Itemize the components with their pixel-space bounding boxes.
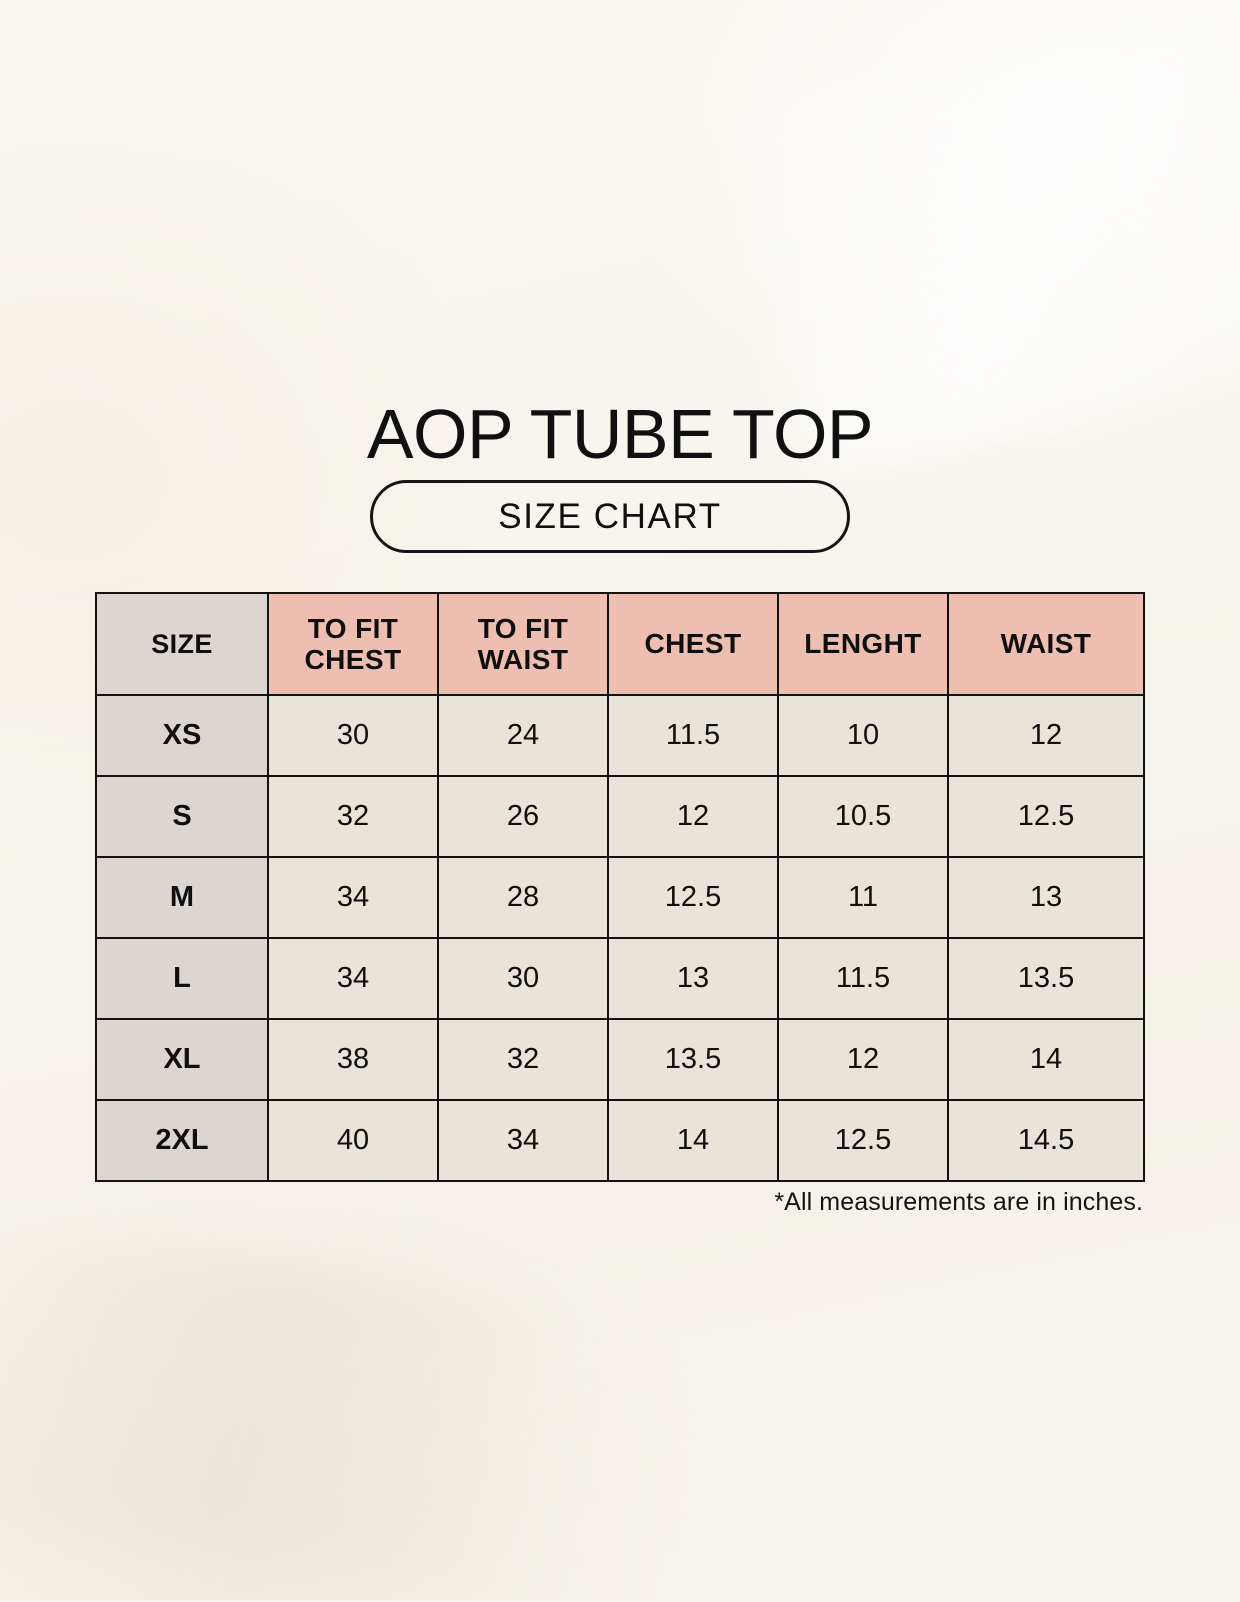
cell-lenght: 11: [778, 857, 948, 938]
cell-size: L: [96, 938, 268, 1019]
cell-waist: 13: [948, 857, 1144, 938]
measurement-units-note: *All measurements are in inches.: [95, 1188, 1143, 1217]
cell-to-fit-waist: 28: [438, 857, 608, 938]
cell-chest: 11.5: [608, 695, 778, 776]
cell-lenght: 10.5: [778, 776, 948, 857]
cell-chest: 12: [608, 776, 778, 857]
column-header-waist: WAIST: [948, 593, 1144, 695]
cell-lenght: 12.5: [778, 1100, 948, 1181]
cell-to-fit-chest: 34: [268, 938, 438, 1019]
cell-lenght: 11.5: [778, 938, 948, 1019]
column-header-to-fit-chest: TO FIT CHEST: [268, 593, 438, 695]
cell-to-fit-waist: 24: [438, 695, 608, 776]
table-row: XL 38 32 13.5 12 14: [96, 1019, 1144, 1100]
column-header-to-fit-waist: TO FIT WAIST: [438, 593, 608, 695]
table-row: 2XL 40 34 14 12.5 14.5: [96, 1100, 1144, 1181]
cell-to-fit-chest: 40: [268, 1100, 438, 1181]
page-title: AOP TUBE TOP: [0, 399, 1240, 469]
column-header-chest: CHEST: [608, 593, 778, 695]
column-header-size: SIZE: [96, 593, 268, 695]
cell-size: S: [96, 776, 268, 857]
cell-to-fit-chest: 32: [268, 776, 438, 857]
size-chart-page: AOP TUBE TOP SIZE CHART SIZE TO FIT CHES…: [0, 0, 1240, 1600]
table-body: XS 30 24 11.5 10 12 S 32 26 12 10.5 12.5…: [96, 695, 1144, 1181]
cell-size: XL: [96, 1019, 268, 1100]
table-row: S 32 26 12 10.5 12.5: [96, 776, 1144, 857]
cell-to-fit-chest: 30: [268, 695, 438, 776]
size-chart-badge: SIZE CHART: [370, 480, 850, 553]
cell-waist: 13.5: [948, 938, 1144, 1019]
cell-to-fit-waist: 30: [438, 938, 608, 1019]
cell-to-fit-chest: 34: [268, 857, 438, 938]
size-chart-badge-label: SIZE CHART: [498, 497, 721, 537]
table-row: L 34 30 13 11.5 13.5: [96, 938, 1144, 1019]
cell-waist: 12: [948, 695, 1144, 776]
table-header: SIZE TO FIT CHEST TO FIT WAIST CHEST LEN…: [96, 593, 1144, 695]
cell-to-fit-waist: 26: [438, 776, 608, 857]
cell-lenght: 10: [778, 695, 948, 776]
cell-waist: 14.5: [948, 1100, 1144, 1181]
cell-lenght: 12: [778, 1019, 948, 1100]
cell-to-fit-chest: 38: [268, 1019, 438, 1100]
cell-to-fit-waist: 32: [438, 1019, 608, 1100]
cell-to-fit-waist: 34: [438, 1100, 608, 1181]
column-header-lenght: LENGHT: [778, 593, 948, 695]
cell-waist: 12.5: [948, 776, 1144, 857]
cell-size: XS: [96, 695, 268, 776]
cell-size: 2XL: [96, 1100, 268, 1181]
size-chart-table: SIZE TO FIT CHEST TO FIT WAIST CHEST LEN…: [95, 592, 1145, 1182]
table-header-row: SIZE TO FIT CHEST TO FIT WAIST CHEST LEN…: [96, 593, 1144, 695]
cell-chest: 13.5: [608, 1019, 778, 1100]
cell-chest: 13: [608, 938, 778, 1019]
cell-size: M: [96, 857, 268, 938]
table-row: XS 30 24 11.5 10 12: [96, 695, 1144, 776]
cell-waist: 14: [948, 1019, 1144, 1100]
cell-chest: 12.5: [608, 857, 778, 938]
table-row: M 34 28 12.5 11 13: [96, 857, 1144, 938]
background-shadow-streak: [0, 1218, 578, 1601]
cell-chest: 14: [608, 1100, 778, 1181]
size-chart-table-container: SIZE TO FIT CHEST TO FIT WAIST CHEST LEN…: [95, 592, 1143, 1182]
